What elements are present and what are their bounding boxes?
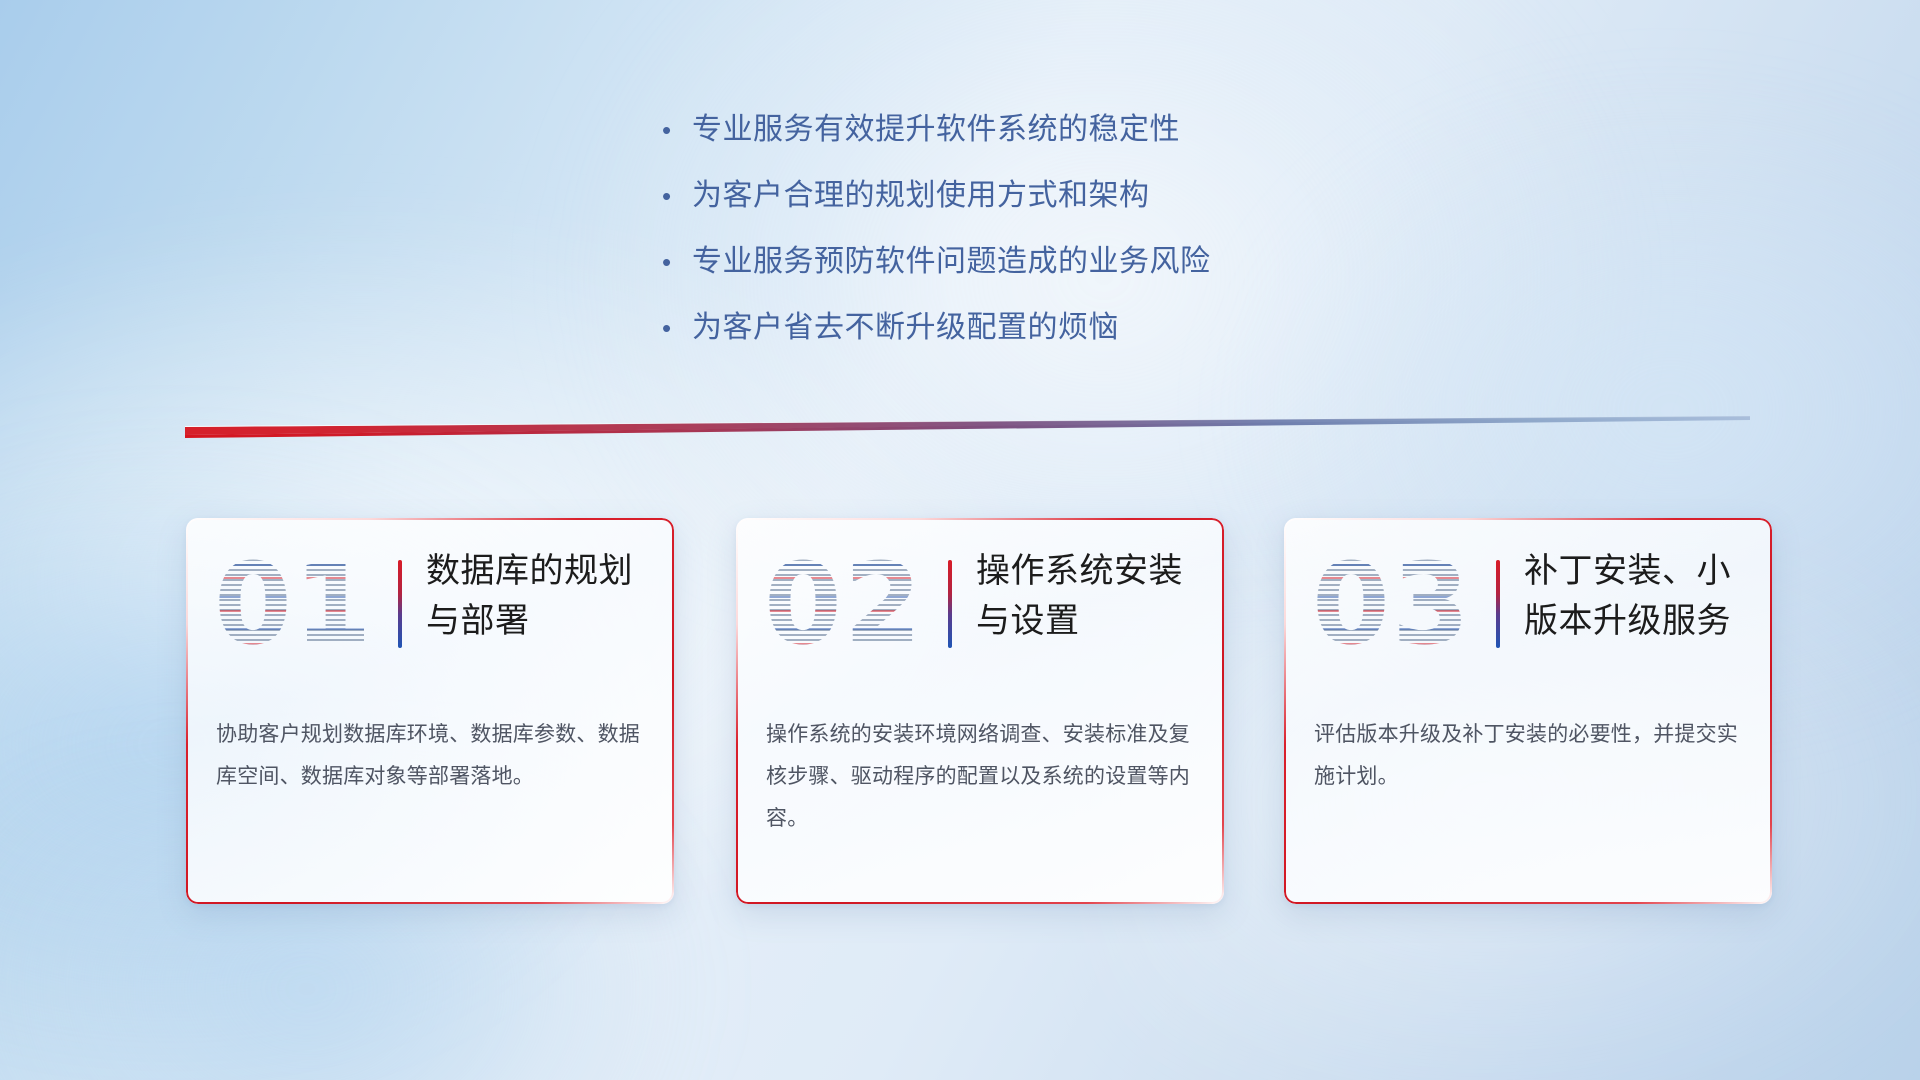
- card-header: 03 03 补丁安装、小 版本升级服务: [1284, 518, 1772, 698]
- card-description: 操作系统的安装环境网络调查、安装标准及复核步骤、驱动程序的配置以及系统的设置等内…: [766, 714, 1198, 840]
- card-title: 操作系统安装 与设置: [976, 546, 1202, 646]
- card-accent-bar: [1496, 560, 1500, 648]
- divider-shape-icon: [185, 416, 1750, 438]
- card-title: 数据库的规划 与部署: [426, 546, 652, 646]
- list-item: • 专业服务有效提升软件系统的稳定性: [662, 110, 1482, 150]
- card-number-tint-overlay: 01: [214, 544, 364, 666]
- bullet-item-label: 为客户合理的规划使用方式和架构: [692, 176, 1150, 216]
- card-number-tint-overlay: 03: [1312, 544, 1462, 666]
- bullet-dot-icon: •: [662, 242, 692, 282]
- card-header: 02 02 操作系统安装 与设置: [736, 518, 1224, 698]
- card-title-line-2: 与设置: [976, 596, 1202, 646]
- card-title-line-1: 补丁安装、小: [1524, 546, 1750, 596]
- card-number-tint-overlay: 02: [764, 544, 914, 666]
- bullet-item-label: 为客户省去不断升级配置的烦恼: [692, 308, 1119, 348]
- card-accent-bar: [398, 560, 402, 648]
- card-title-line-2: 版本升级服务: [1524, 596, 1750, 646]
- service-card[interactable]: 03 03 补丁安装、小 版本升级服务 评估版本升级及补丁安装的必要性，并提交实…: [1284, 518, 1772, 904]
- section-divider: [185, 416, 1750, 438]
- slide-root: • 专业服务有效提升软件系统的稳定性 • 为客户合理的规划使用方式和架构 • 专…: [0, 0, 1920, 1080]
- benefits-bullet-list: • 专业服务有效提升软件系统的稳定性 • 为客户合理的规划使用方式和架构 • 专…: [662, 110, 1482, 374]
- card-header: 01 01 数据库的规划 与部署: [186, 518, 674, 698]
- bullet-dot-icon: •: [662, 176, 692, 216]
- card-title-line-1: 操作系统安装: [976, 546, 1202, 596]
- list-item: • 为客户合理的规划使用方式和架构: [662, 176, 1482, 216]
- bullet-dot-icon: •: [662, 308, 692, 348]
- bullet-item-label: 专业服务预防软件问题造成的业务风险: [692, 242, 1211, 282]
- list-item: • 专业服务预防软件问题造成的业务风险: [662, 242, 1482, 282]
- card-description: 评估版本升级及补丁安装的必要性，并提交实施计划。: [1314, 714, 1746, 798]
- card-description: 协助客户规划数据库环境、数据库参数、数据库空间、数据库对象等部署落地。: [216, 714, 648, 798]
- card-title-line-1: 数据库的规划: [426, 546, 652, 596]
- card-title-line-2: 与部署: [426, 596, 652, 646]
- bullet-item-label: 专业服务有效提升软件系统的稳定性: [692, 110, 1180, 150]
- card-title: 补丁安装、小 版本升级服务: [1524, 546, 1750, 646]
- service-card[interactable]: 01 01 数据库的规划 与部署 协助客户规划数据库环境、数据库参数、数据库空间…: [186, 518, 674, 904]
- service-card[interactable]: 02 02 操作系统安装 与设置 操作系统的安装环境网络调查、安装标准及复核步骤…: [736, 518, 1224, 904]
- service-cards: 01 01 数据库的规划 与部署 协助客户规划数据库环境、数据库参数、数据库空间…: [0, 518, 1920, 918]
- bullet-dot-icon: •: [662, 110, 692, 150]
- list-item: • 为客户省去不断升级配置的烦恼: [662, 308, 1482, 348]
- card-accent-bar: [948, 560, 952, 648]
